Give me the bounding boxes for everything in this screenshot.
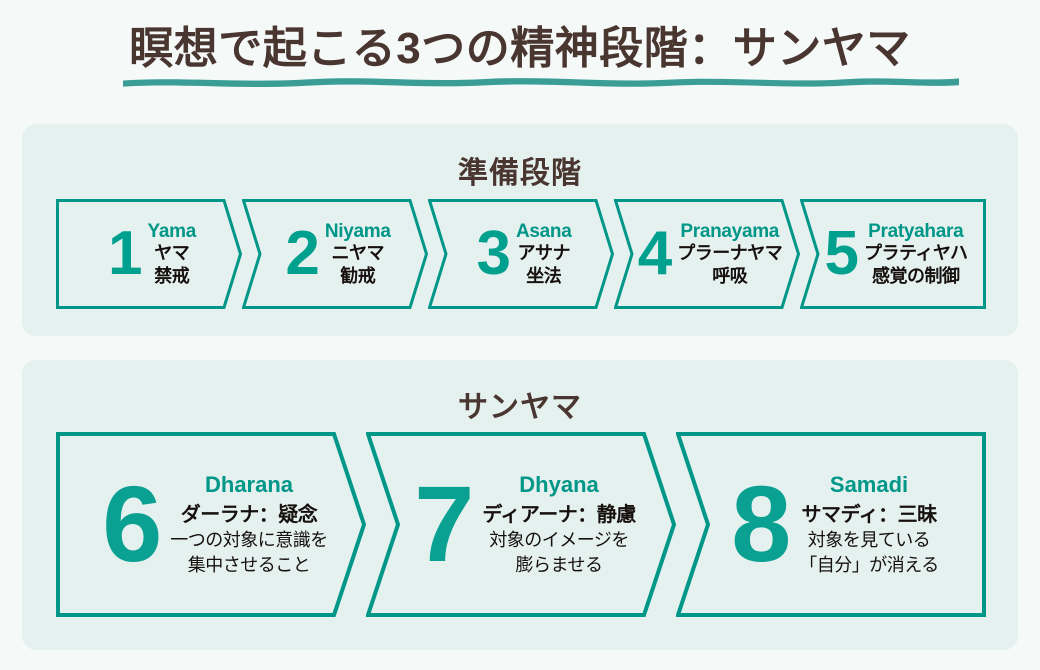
step-item-3[interactable]: 3 Asana アサナ 坐法 [428,199,614,309]
step-jp-main-5: プラティヤハ [864,242,968,265]
step-row-samyama: 6 Dharana ダーラナ：疑念 一つの対象に意識を 集中させること [56,432,986,617]
step-item-8[interactable]: 8 Samadi サマディ：三昧 対象を見ている 「自分」が消える [676,432,986,617]
step-number-6: 6 [102,481,160,567]
infographic-page: 瞑想で起こる3つの精神段階：サンヤマ 準備段階 1 Yama ヤマ 禁戒 [0,0,1040,670]
step-item-6[interactable]: 6 Dharana ダーラナ：疑念 一つの対象に意識を 集中させること [56,432,366,617]
step-number-8: 8 [731,481,789,567]
step-jp-sub-1: 禁戒 [148,265,196,288]
step-jp-sub-4: 呼吸 [677,265,782,288]
step-item-7[interactable]: 7 Dhyana ディアーナ：静慮 対象のイメージを 膨らませる [366,432,676,617]
step-jp-sub-6: 一つの対象に意識を 集中させること [170,528,328,577]
step-jp-sub-7-line-2: 膨らませる [482,553,635,577]
step-jp-main-4: プラーナヤマ [677,242,782,265]
step-item-2[interactable]: 2 Niyama ニヤマ 勧戒 [242,199,428,309]
page-title-area: 瞑想で起こる3つの精神段階：サンヤマ [0,24,1040,75]
step-jp-sub-8: 対象を見ている 「自分」が消える [799,528,938,577]
step-jp-main-7: ディアーナ：静慮 [482,502,635,528]
step-jp-sub-8-line-1: 対象を見ている [799,528,938,552]
step-sanskrit-6: Dharana [170,472,328,498]
step-number-2: 2 [285,228,318,281]
step-number-1: 1 [108,228,141,281]
step-jp-main-1: ヤマ [148,242,196,265]
step-jp-sub-5: 感覚の制御 [864,265,968,288]
section-heading-samyama: サンヤマ [22,382,1018,426]
step-row-preparation: 1 Yama ヤマ 禁戒 2 Niyama ニヤマ [56,199,986,309]
step-jp-main-8: サマディ：三昧 [799,502,938,528]
step-sanskrit-1: Yama [148,221,196,243]
step-sanskrit-2: Niyama [325,221,391,243]
section-panel-preparation: 準備段階 1 Yama ヤマ 禁戒 [22,124,1018,336]
step-jp-main-6: ダーラナ：疑念 [170,502,328,528]
step-sanskrit-5: Pratyahara [864,221,968,243]
step-sanskrit-3: Asana [516,221,572,243]
step-item-4[interactable]: 4 Pranayama プラーナヤマ 呼吸 [614,199,800,309]
step-number-5: 5 [824,228,857,281]
section-panel-samyama: サンヤマ 6 Dharana ダーラナ：疑念 一つの対象に意識を 集中させること [22,360,1018,650]
step-item-1[interactable]: 1 Yama ヤマ 禁戒 [56,199,242,309]
step-number-7: 7 [414,481,472,567]
step-jp-sub-8-line-2: 「自分」が消える [799,553,938,577]
step-sanskrit-4: Pranayama [677,221,782,243]
step-sanskrit-7: Dhyana [482,472,635,498]
step-jp-sub-6-line-1: 一つの対象に意識を [170,528,328,552]
step-number-3: 3 [476,228,509,281]
page-title: 瞑想で起こる3つの精神段階：サンヤマ [129,24,910,75]
brush-underline-icon [121,74,961,87]
section-heading-preparation: 準備段階 [22,148,1018,192]
step-jp-sub-7-line-1: 対象のイメージを [482,528,635,552]
page-title-text: 瞑想で起こる3つの精神段階：サンヤマ [129,24,910,73]
step-sanskrit-8: Samadi [799,472,938,498]
step-jp-main-3: アサナ [516,242,572,265]
step-number-4: 4 [638,228,671,281]
step-jp-sub-2: 勧戒 [325,265,391,288]
step-jp-main-2: ニヤマ [325,242,391,265]
step-jp-sub-3: 坐法 [516,265,572,288]
step-item-5[interactable]: 5 Pratyahara プラティヤハ 感覚の制御 [800,199,986,309]
step-jp-sub-6-line-2: 集中させること [170,553,328,577]
step-jp-sub-7: 対象のイメージを 膨らませる [482,528,635,577]
